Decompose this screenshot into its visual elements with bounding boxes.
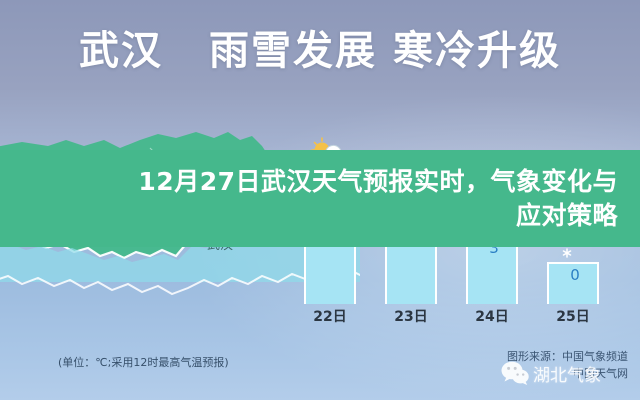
banner-city: 武汉	[79, 18, 163, 76]
article-title-line2: 应对策略	[516, 199, 618, 233]
wechat-icon	[500, 358, 530, 388]
wechat-watermark: 湖北气象	[500, 352, 640, 394]
x-tick-0: 22日	[304, 306, 356, 326]
weather-forecast-graphic: 武汉雨雪发展 寒冷升级 武汉	[0, 0, 640, 400]
banner-condition: 雨雪发展 寒冷升级	[209, 18, 561, 76]
bar-3: 0	[547, 262, 599, 304]
wechat-account-name: 湖北气象	[533, 361, 601, 386]
article-title: 12月27日武汉天气预报实时，气象变化与 应对策略	[0, 150, 640, 247]
x-tick-2: 24日	[466, 306, 518, 326]
unit-note: (单位：℃;采用12时最高气温预报)	[58, 354, 229, 370]
chart-x-axis: 22日 23日 24日 25日	[296, 306, 626, 332]
bar-value-3: 0	[549, 266, 601, 284]
article-title-line1: 12月27日武汉天气预报实时，气象变化与	[138, 165, 618, 199]
banner-headline: 武汉雨雪发展 寒冷升级	[0, 12, 640, 82]
x-tick-1: 23日	[385, 306, 437, 326]
x-tick-3: 25日	[547, 306, 599, 326]
